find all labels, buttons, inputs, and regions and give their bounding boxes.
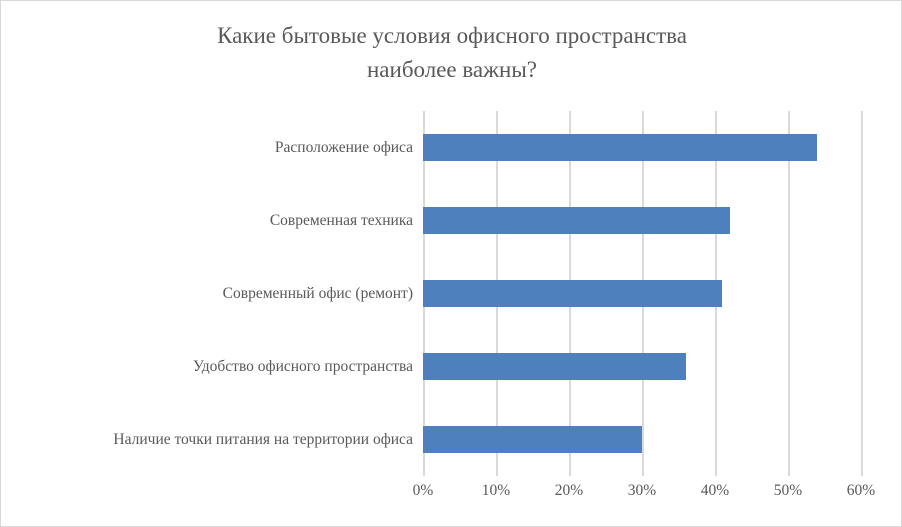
chart-container: Какие бытовые условия офисного пространс… (0, 0, 902, 527)
bar-band (423, 403, 861, 476)
x-tick-label: 0% (413, 482, 434, 500)
bar[interactable] (423, 426, 642, 453)
x-tick-label: 30% (628, 482, 656, 500)
chart-title: Какие бытовые условия офисного пространс… (81, 19, 823, 87)
bar-band (423, 330, 861, 403)
x-tick-label: 10% (482, 482, 510, 500)
category-label: Расположение офиса (275, 139, 413, 157)
plot-area (423, 111, 861, 476)
value-axis: 0% 10% 20% 30% 40% 50% 60% (423, 482, 861, 510)
category-axis-band: Наличие точки питания на территории офис… (1, 403, 413, 476)
gridline-60 (861, 111, 863, 476)
category-axis-band: Современная техника (1, 184, 413, 257)
bar-band (423, 184, 861, 257)
category-label: Наличие точки питания на территории офис… (113, 431, 413, 449)
bars-layer (423, 111, 861, 476)
x-tick-label: 40% (701, 482, 729, 500)
category-axis-band: Расположение офиса (1, 111, 413, 184)
category-axis-band: Удобство офисного пространства (1, 330, 413, 403)
bar-band (423, 257, 861, 330)
x-tick-label: 20% (555, 482, 583, 500)
x-tick-label: 50% (774, 482, 802, 500)
category-axis-band: Современный офис (ремонт) (1, 257, 413, 330)
category-label: Удобство офисного пространства (193, 358, 413, 376)
bar-band (423, 111, 861, 184)
bar[interactable] (423, 207, 730, 234)
bar[interactable] (423, 353, 686, 380)
bar[interactable] (423, 134, 817, 161)
category-label: Современный офис (ремонт) (223, 285, 413, 303)
x-tick-label: 60% (847, 482, 875, 500)
category-axis: Расположение офиса Современная техника С… (1, 111, 413, 476)
category-label: Современная техника (270, 212, 413, 230)
bar[interactable] (423, 280, 722, 307)
